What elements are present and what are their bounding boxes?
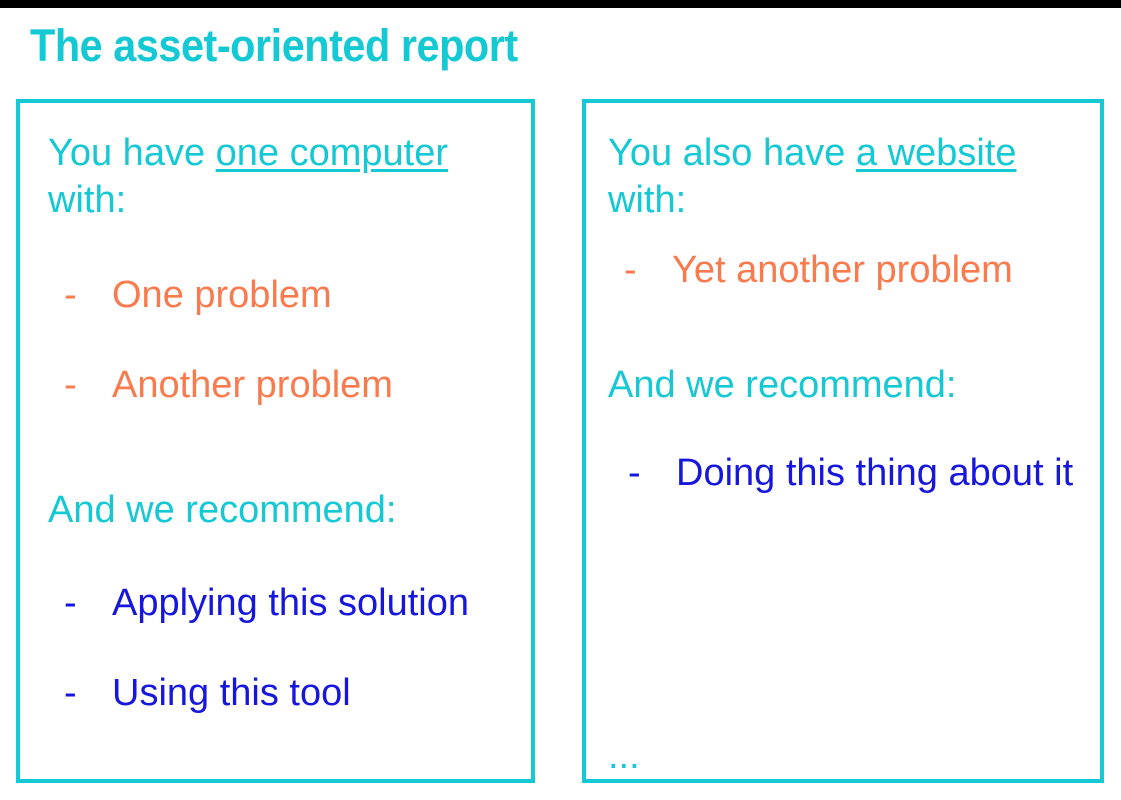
bullet-dash-icon: - (628, 451, 648, 495)
recommendation-text: Using this tool (112, 671, 351, 715)
problem-text: Another problem (112, 363, 393, 407)
website-recommend-heading: And we recommend: (608, 362, 957, 409)
bullet-dash-icon: - (64, 581, 84, 625)
asset-panel-website: You also have a website with: - Yet anot… (582, 99, 1104, 783)
problem-text: One problem (112, 273, 332, 317)
asset-panel-computer: You have one computer with: - One proble… (16, 99, 535, 783)
list-item: - Yet another problem (624, 248, 1013, 292)
recommendation-text: Doing this thing about it (676, 451, 1073, 495)
continuation-ellipsis: ... (608, 736, 640, 776)
top-black-bar (0, 0, 1121, 8)
recommendation-text: Applying this solution (112, 581, 469, 625)
bullet-dash-icon: - (64, 273, 84, 317)
computer-asset-link[interactable]: one computer (216, 132, 448, 174)
page-title: The asset-oriented report (30, 18, 518, 74)
website-intro-line: You also have a website with: (608, 130, 1078, 224)
bullet-dash-icon: - (64, 363, 84, 407)
computer-recommend-heading: And we recommend: (48, 487, 397, 534)
list-item: - Applying this solution (64, 581, 469, 625)
computer-intro-line: You have one computer with: (48, 130, 498, 224)
website-asset-link[interactable]: a website (856, 132, 1017, 174)
list-item: - Doing this thing about it (628, 451, 1073, 495)
list-item: - One problem (64, 273, 332, 317)
bullet-dash-icon: - (64, 671, 84, 715)
computer-intro-prefix: You have (48, 132, 216, 174)
website-intro-prefix: You also have (608, 132, 856, 174)
bullet-dash-icon: - (624, 248, 644, 292)
problem-text: Yet another problem (672, 248, 1013, 292)
list-item: - Using this tool (64, 671, 351, 715)
list-item: - Another problem (64, 363, 393, 407)
